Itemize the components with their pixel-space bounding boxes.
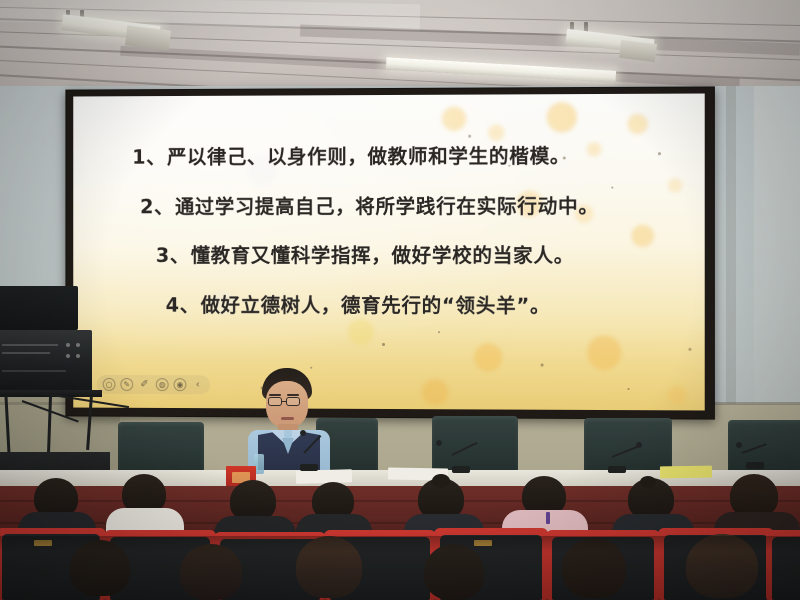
audio-amplifier-rack bbox=[0, 330, 92, 392]
slide-bullet-2-number: 2、 bbox=[140, 195, 174, 218]
slide-bullet-4: 4、做好立德树人，德育先行的“领头羊”。 bbox=[118, 295, 674, 315]
audience-person-front bbox=[168, 544, 264, 600]
eyeglasses-icon bbox=[268, 397, 282, 406]
projection-screen-frame: 1、严以律己、以身作则，做教师和学生的楷模。 2、通过学习提高自己，将所学践行在… bbox=[65, 86, 714, 419]
eyeglasses-icon bbox=[286, 397, 300, 406]
head-table-chair bbox=[584, 418, 672, 476]
eraser-icon[interactable]: ◍ bbox=[156, 378, 169, 391]
conference-room-photo: 1、严以律己、以身作则，做教师和学生的楷模。 2、通过学习提高自己，将所学践行在… bbox=[0, 0, 800, 600]
slide-bullet-2: 2、通过学习提高自己，将所学践行在实际行动中。 bbox=[118, 196, 674, 216]
audience-person bbox=[216, 480, 292, 538]
slide-bullet-1-number: 1、 bbox=[132, 146, 166, 169]
slide-bullet-1-text: 严以律己、以身作则，做教师和学生的楷模。 bbox=[167, 144, 570, 168]
projection-screen: 1、严以律己、以身作则，做教师和学生的楷模。 2、通过学习提高自己，将所学践行在… bbox=[73, 93, 704, 410]
table-shadow bbox=[0, 536, 800, 552]
presenter-eyebrow bbox=[269, 394, 281, 396]
monitor-display bbox=[0, 286, 78, 330]
back-wall-right-panel bbox=[754, 86, 800, 416]
pointer-icon[interactable]: ○ bbox=[103, 378, 116, 391]
presentation-toolbar[interactable]: ○ ✎ ✐ ◍ ◉ ‹ bbox=[97, 375, 210, 394]
slide-bullet-4-text: 做好立德树人，德育先行的“领头羊”。 bbox=[201, 293, 551, 317]
ceiling bbox=[0, 0, 800, 96]
presenter-eyebrow bbox=[287, 394, 299, 396]
head-table-chair bbox=[432, 416, 518, 474]
presenter-person bbox=[236, 368, 342, 480]
document-papers bbox=[660, 466, 712, 479]
highlighter-icon[interactable]: ✐ bbox=[138, 378, 151, 391]
slide-bullet-3: 3、懂教育又懂科学指挥，做好学校的当家人。 bbox=[118, 246, 674, 266]
slide-content: 1、严以律己、以身作则，做教师和学生的楷模。 2、通过学习提高自己，将所学践行在… bbox=[73, 93, 704, 410]
head-table-chair bbox=[728, 420, 800, 476]
presenter-mouth bbox=[281, 417, 294, 420]
audience-person bbox=[108, 474, 180, 536]
audience-person-front bbox=[412, 544, 508, 600]
slide-bullet-3-number: 3、 bbox=[156, 244, 190, 267]
slide-bullet-1: 1、严以律己、以身作则，做教师和学生的楷模。 bbox=[118, 146, 674, 167]
wall-pillar bbox=[726, 86, 736, 416]
eyeglasses-bridge bbox=[282, 401, 287, 402]
slide-bullet-2-text: 通过学习提高自己，将所学践行在实际行动中。 bbox=[175, 194, 599, 218]
more-options-icon[interactable]: ‹ bbox=[191, 378, 204, 391]
slide-bullet-4-number: 4、 bbox=[166, 293, 200, 316]
slide-bullet-3-text: 懂教育又懂科学指挥，做好学校的当家人。 bbox=[191, 244, 574, 267]
slide-menu-icon[interactable]: ◉ bbox=[174, 378, 187, 391]
pen-tool-icon[interactable]: ✎ bbox=[120, 378, 133, 391]
